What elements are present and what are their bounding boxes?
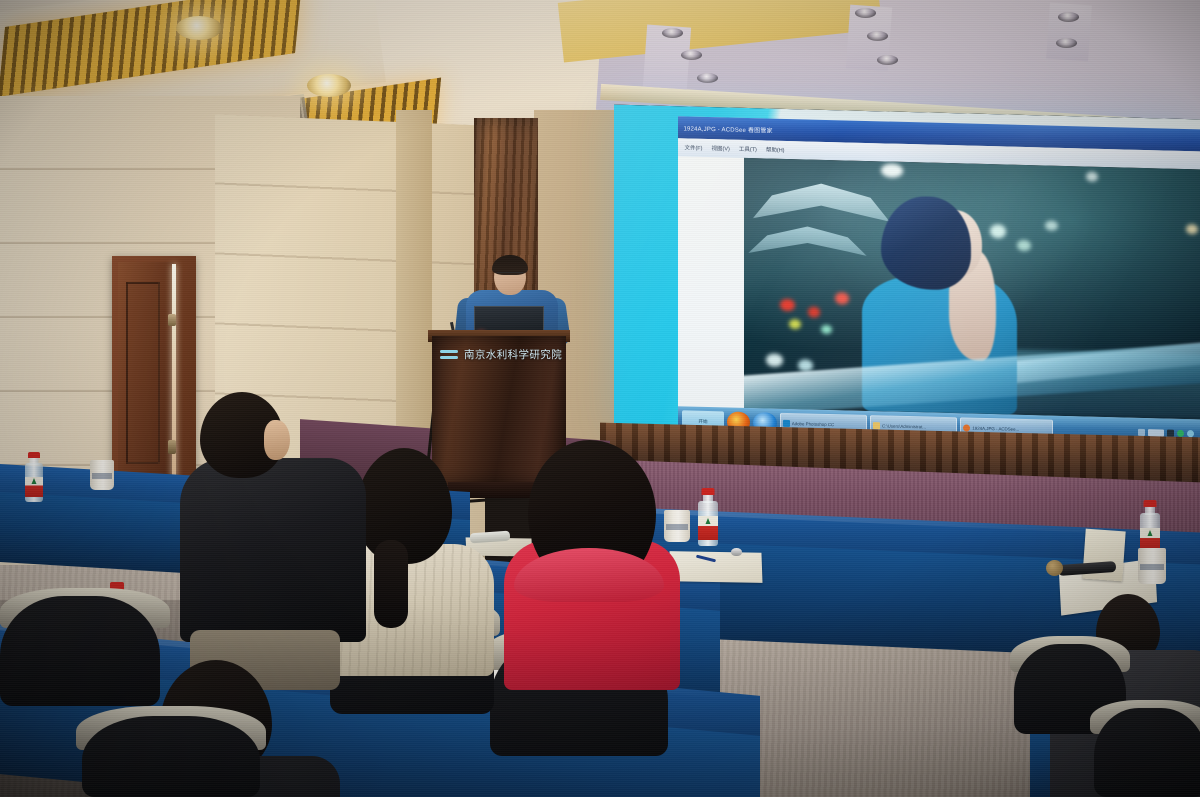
spotlight-icon-1b (681, 50, 702, 60)
menu-item-help[interactable]: 帮助(H) (766, 146, 785, 154)
spotlight-icon-2b (867, 31, 888, 41)
photo-bokeh-1 (780, 298, 795, 311)
cup-print-1 (666, 524, 688, 530)
attendee-dark-face (264, 420, 290, 460)
photo-bokeh-7 (798, 359, 813, 371)
door-panel-inset (126, 282, 160, 464)
spotlight-icon-1a (662, 28, 683, 38)
bottle-cap-icon-5 (1144, 500, 1157, 507)
titlebar-text: 1924A,JPG - ACDSee 看图管家 (683, 123, 772, 134)
glasses-icon (497, 272, 523, 278)
downlight-icon-1 (176, 16, 222, 40)
lectern-sign: 南京水利科学研究院 (438, 344, 562, 364)
start-label: 开始 (698, 418, 707, 424)
photo-bokeh-4 (789, 319, 801, 329)
mouse-icon[interactable] (731, 548, 742, 556)
photo-bokeh-11 (1086, 171, 1098, 181)
spotlight-icon-2c (877, 55, 898, 65)
photo-bokeh-6 (766, 353, 782, 367)
taskbar-item-photoshop-label: Adobe Photoshop CC (792, 421, 834, 427)
photo-subject-hair (881, 196, 971, 291)
photo-bokeh-10 (1045, 220, 1058, 231)
downlight-icon-2 (307, 74, 351, 97)
water-bottle-1[interactable] (698, 488, 718, 546)
attendee-ponytail-tail (374, 540, 408, 628)
chair-dark (0, 596, 160, 706)
paper-cup-4[interactable] (1138, 548, 1166, 584)
projection-screen[interactable]: 1924A,JPG - ACDSee 看图管家 文件(F) 视图(V) 工具(T… (614, 105, 1200, 450)
chair-far-right (1094, 708, 1200, 797)
door-hinge-icon (168, 440, 176, 454)
screen-surface: 1924A,JPG - ACDSee 看图管家 文件(F) 视图(V) 工具(T… (614, 105, 1200, 450)
menu-item-view[interactable]: 视图(V) (711, 144, 729, 152)
attendee-dark-body (180, 458, 366, 642)
menu-item-tools[interactable]: 工具(T) (739, 145, 757, 153)
acdsee-window[interactable]: 1924A,JPG - ACDSee 看图管家 文件(F) 视图(V) 工具(T… (678, 116, 1200, 449)
notebook-center (670, 551, 763, 583)
cup-print-5 (92, 473, 112, 478)
institute-logo-icon (438, 348, 460, 361)
photo-bokeh-3 (835, 292, 849, 304)
paper-cup-1[interactable] (664, 510, 690, 542)
chair-front-left (82, 716, 260, 797)
paper-cup-5[interactable] (90, 460, 114, 490)
auditorium-photo: 1924A,JPG - ACDSee 看图管家 文件(F) 视图(V) 工具(T… (0, 0, 1200, 797)
spotlight-icon-2a (855, 8, 876, 18)
door-handle-icon[interactable] (168, 314, 176, 326)
spotlight-icon-1c (697, 73, 718, 83)
spotlight-icon-3b (1056, 38, 1077, 48)
bottle-cap-icon (702, 488, 715, 495)
water-bottle-6[interactable] (25, 452, 43, 502)
menu-item-file[interactable]: 文件(F) (684, 143, 702, 151)
cup-print-4 (1140, 564, 1164, 570)
photo-viewport[interactable] (744, 158, 1200, 419)
lectern-sign-text: 南京水利科学研究院 (464, 347, 562, 362)
spotlight-icon-3a (1058, 12, 1079, 22)
